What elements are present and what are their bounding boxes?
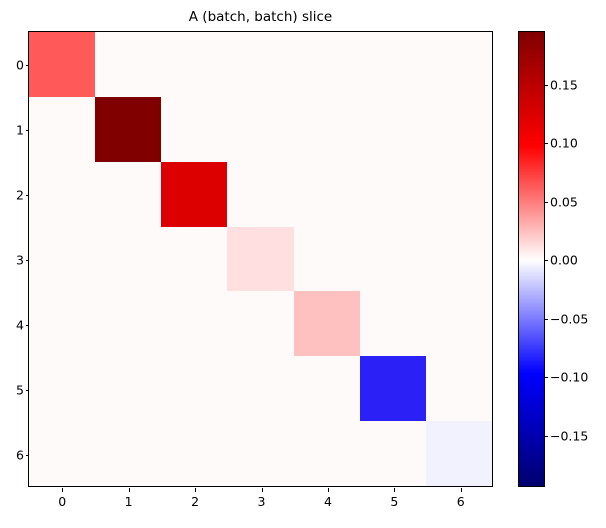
heatmap-cell — [360, 227, 426, 292]
colorbar-gradient — [519, 32, 544, 486]
y-axis-tick — [26, 390, 30, 391]
heatmap-cell — [227, 356, 293, 421]
page-title: A (batch, batch) slice — [28, 8, 493, 26]
heatmap-cell — [426, 227, 492, 292]
colorbar: 0.150.100.050.00−0.05−0.10−0.15 — [518, 31, 545, 487]
x-axis-tick-label: 0 — [58, 494, 66, 509]
x-axis-tick — [461, 488, 462, 492]
x-axis-tick-label: 3 — [258, 494, 266, 509]
heatmap-cell — [294, 227, 360, 292]
colorbar-tick — [544, 377, 548, 378]
y-axis-tick — [26, 130, 30, 131]
heatmap-cell — [161, 97, 227, 162]
heatmap-cell — [29, 356, 95, 421]
heatmap-cell — [95, 227, 161, 292]
colorbar-tick-label: −0.05 — [550, 311, 588, 326]
heatmap-cell — [294, 32, 360, 97]
colorbar-tick — [544, 260, 548, 261]
x-axis-tick — [62, 488, 63, 492]
colorbar-tick-label: 0.15 — [550, 77, 578, 92]
figure-canvas: A (batch, batch) slice 01234560123456 0.… — [0, 0, 606, 528]
heatmap-cell — [360, 162, 426, 227]
heatmap-cell — [227, 162, 293, 227]
heatmap-cell — [161, 356, 227, 421]
y-axis-tick-label: 5 — [16, 383, 24, 398]
heatmap-cell — [95, 97, 161, 162]
heatmap-cell — [161, 32, 227, 97]
colorbar-tick-label: −0.15 — [550, 428, 588, 443]
y-axis-tick-label: 2 — [16, 187, 24, 202]
heatmap-cell — [29, 97, 95, 162]
y-axis-tick-label: 0 — [16, 57, 24, 72]
heatmap-cell — [426, 32, 492, 97]
colorbar-tick-label: 0.10 — [550, 136, 578, 151]
colorbar-tick — [544, 436, 548, 437]
heatmap-cell — [161, 291, 227, 356]
colorbar-tick — [544, 202, 548, 203]
heatmap-cell — [360, 97, 426, 162]
colorbar-tick — [544, 85, 548, 86]
heatmap-cell — [360, 421, 426, 486]
heatmap-cell — [360, 356, 426, 421]
heatmap-cell — [227, 32, 293, 97]
y-axis-tick — [26, 195, 30, 196]
heatmap-cell — [294, 97, 360, 162]
heatmap-cell — [227, 97, 293, 162]
x-axis-tick-label: 6 — [457, 494, 465, 509]
y-axis-tick — [26, 325, 30, 326]
x-axis-tick-label: 5 — [390, 494, 398, 509]
x-axis-tick-label: 1 — [125, 494, 133, 509]
heatmap-cell — [294, 162, 360, 227]
y-axis-tick-label: 1 — [16, 122, 24, 137]
colorbar-tick — [544, 143, 548, 144]
heatmap-cell — [29, 227, 95, 292]
heatmap-cell — [95, 291, 161, 356]
heatmap-cell — [29, 32, 95, 97]
heatmap-cell — [360, 291, 426, 356]
heatmap-cell — [426, 421, 492, 486]
heatmap-cell — [227, 291, 293, 356]
colorbar-tick-label: 0.05 — [550, 194, 578, 209]
x-axis-tick-label: 2 — [191, 494, 199, 509]
heatmap-cell — [294, 356, 360, 421]
x-axis-tick-label: 4 — [324, 494, 332, 509]
heatmap-cell — [161, 162, 227, 227]
heatmap-cell — [29, 162, 95, 227]
colorbar-tick — [544, 319, 548, 320]
y-axis-tick-label: 4 — [16, 318, 24, 333]
heatmap-cell — [227, 421, 293, 486]
heatmap-cell — [426, 97, 492, 162]
heatmap-cell — [95, 32, 161, 97]
heatmap-cell — [227, 227, 293, 292]
heatmap-cell — [426, 162, 492, 227]
heatmap-cell — [29, 291, 95, 356]
y-axis-tick-label: 3 — [16, 253, 24, 268]
heatmap-cell — [95, 356, 161, 421]
heatmap-cell — [360, 32, 426, 97]
y-axis-tick-label: 6 — [16, 448, 24, 463]
heatmap-cell — [95, 162, 161, 227]
heatmap-grid — [29, 32, 492, 486]
heatmap-cell — [294, 421, 360, 486]
colorbar-tick-label: −0.10 — [550, 370, 588, 385]
y-axis-tick — [26, 260, 30, 261]
x-axis-tick — [328, 488, 329, 492]
y-axis-tick — [26, 65, 30, 66]
colorbar-tick-label: 0.00 — [550, 253, 578, 268]
x-axis-tick — [262, 488, 263, 492]
heatmap-cell — [426, 291, 492, 356]
heatmap-cell — [161, 421, 227, 486]
x-axis-tick — [195, 488, 196, 492]
heatmap-cell — [161, 227, 227, 292]
heatmap-axes: 01234560123456 — [28, 31, 493, 487]
heatmap-cell — [426, 356, 492, 421]
heatmap-cell — [294, 291, 360, 356]
x-axis-tick — [394, 488, 395, 492]
heatmap-cell — [95, 421, 161, 486]
heatmap-cell — [29, 421, 95, 486]
x-axis-tick — [129, 488, 130, 492]
y-axis-tick — [26, 455, 30, 456]
